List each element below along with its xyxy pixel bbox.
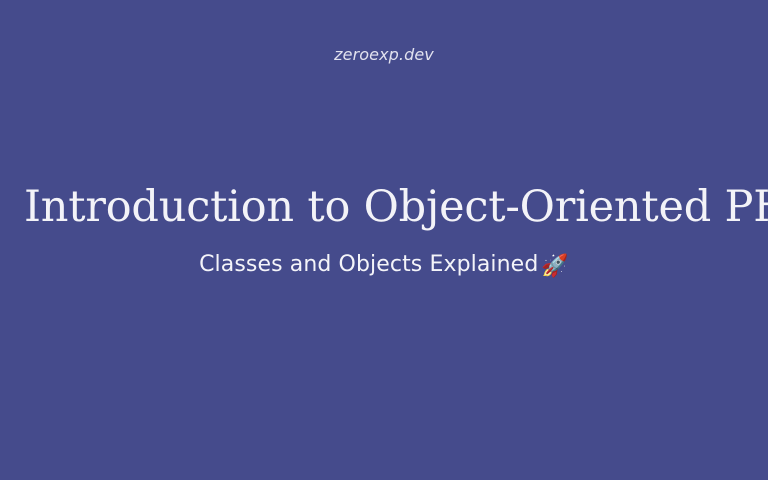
- rocket-icon: 🚀: [541, 250, 569, 284]
- hero-text-block: Introduction to Object-Oriented PHP Clas…: [0, 176, 768, 284]
- page-subtitle-text: Classes and Objects Explained: [199, 252, 538, 277]
- social-share-card: zeroexp.dev Introduction to Object-Orien…: [0, 0, 768, 480]
- page-subtitle: Classes and Objects Explained🚀: [24, 248, 744, 284]
- site-brand-label: zeroexp.dev: [0, 44, 768, 66]
- page-title: Introduction to Object-Oriented PHP: [24, 176, 744, 238]
